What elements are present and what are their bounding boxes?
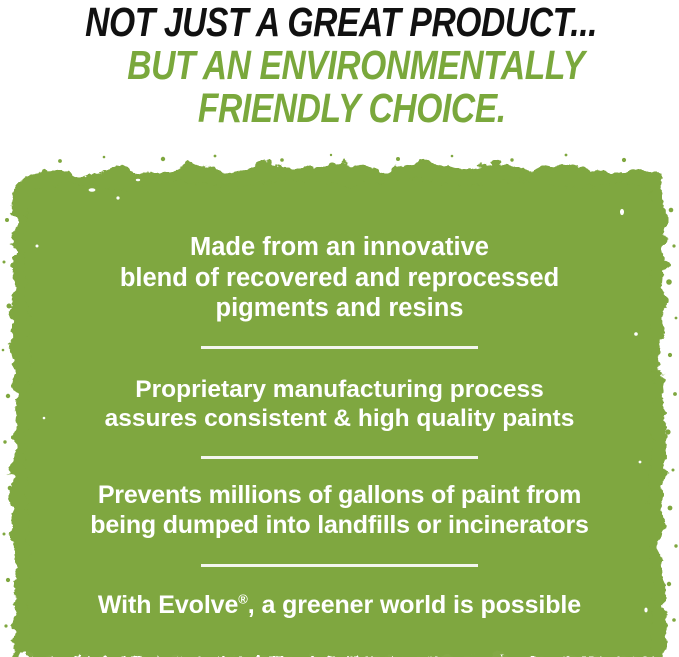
promotional-poster: NOT JUST A GREAT PRODUCT... BUT AN ENVIR… — [0, 0, 679, 657]
benefit-divider-3 — [201, 564, 478, 567]
benefit-3-line-2: being dumped into landfills or incinerat… — [0, 510, 679, 540]
benefit-divider-2 — [201, 456, 478, 459]
benefit-innovative-blend: Made from an innovative blend of recover… — [0, 232, 679, 324]
benefit-1-line-3: pigments and resins — [0, 293, 679, 324]
benefit-prevents-waste: Prevents millions of gallons of paint fr… — [0, 480, 679, 540]
benefit-1-line-1: Made from an innovative — [0, 232, 679, 263]
benefit-2-line-1: Proprietary manufacturing process — [0, 375, 679, 404]
benefit-4-prefix: With — [98, 591, 158, 619]
benefit-4-suffix: , a greener world is possible — [248, 591, 581, 619]
benefit-1-line-2: blend of recovered and reprocessed — [0, 263, 679, 294]
headline-block: NOT JUST A GREAT PRODUCT... BUT AN ENVIR… — [0, 0, 679, 129]
benefit-4-line-1: With Evolve®, a greener world is possibl… — [0, 590, 679, 620]
benefit-greener-world: With Evolve®, a greener world is possibl… — [0, 590, 679, 620]
benefit-3-line-1: Prevents millions of gallons of paint fr… — [0, 480, 679, 510]
panel-content: Made from an innovative blend of recover… — [0, 150, 679, 657]
registered-trademark-icon: ® — [238, 592, 247, 607]
headline-line-2: BUT AN ENVIRONMENTALLY — [61, 45, 618, 86]
headline-line-3: FRIENDLY CHOICE. — [61, 88, 618, 129]
benefit-divider-1 — [201, 346, 478, 349]
brand-name-evolve: Evolve — [158, 591, 238, 619]
headline-line-1: NOT JUST A GREAT PRODUCT... — [61, 2, 618, 43]
benefit-2-line-2: assures consistent & high quality paints — [0, 404, 679, 433]
benefit-proprietary-process: Proprietary manufacturing process assure… — [0, 375, 679, 434]
